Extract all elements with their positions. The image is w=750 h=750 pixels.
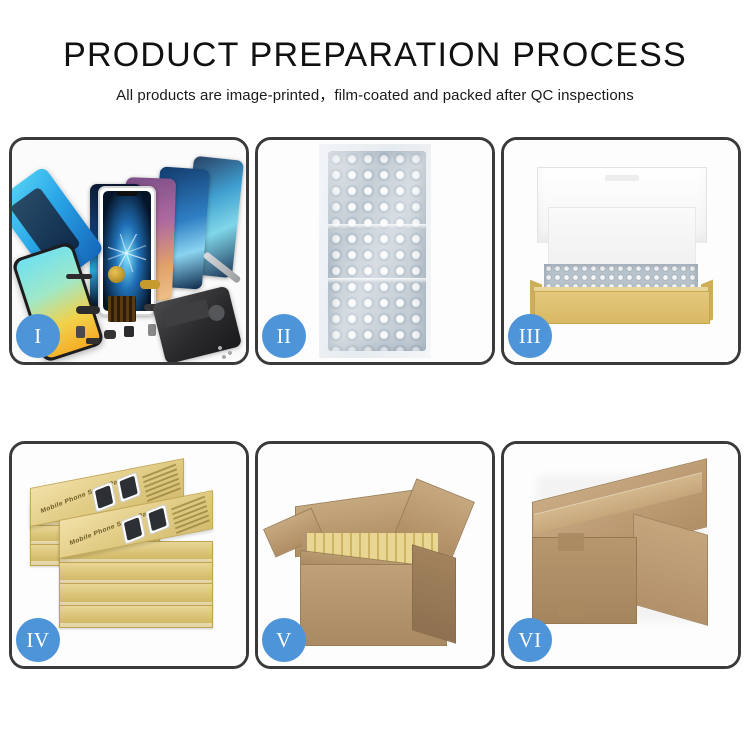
process-step-panel-6[interactable]: VI xyxy=(501,441,741,669)
step-badge-4: IV xyxy=(16,618,60,662)
step-badge-2: II xyxy=(262,314,306,358)
step-badge-5: V xyxy=(262,618,306,662)
page-subtitle: All products are image-printed，film-coat… xyxy=(0,75,750,105)
process-step-panel-1[interactable]: I xyxy=(9,137,249,365)
page-header: PRODUCT PREPARATION PROCESS All products… xyxy=(0,0,750,105)
step-badge-1: I xyxy=(16,314,60,358)
process-step-panel-3[interactable]: III xyxy=(501,137,741,365)
process-step-grid: I II III xyxy=(9,137,741,697)
process-step-panel-5[interactable]: V xyxy=(255,441,495,669)
page-title: PRODUCT PREPARATION PROCESS xyxy=(0,0,750,75)
step-badge-6: VI xyxy=(508,618,552,662)
step-badge-3: III xyxy=(508,314,552,358)
process-step-panel-2[interactable]: II xyxy=(255,137,495,365)
process-step-panel-4[interactable]: Mobile Phone Spare Parts Mobile Phone Sp… xyxy=(9,441,249,669)
